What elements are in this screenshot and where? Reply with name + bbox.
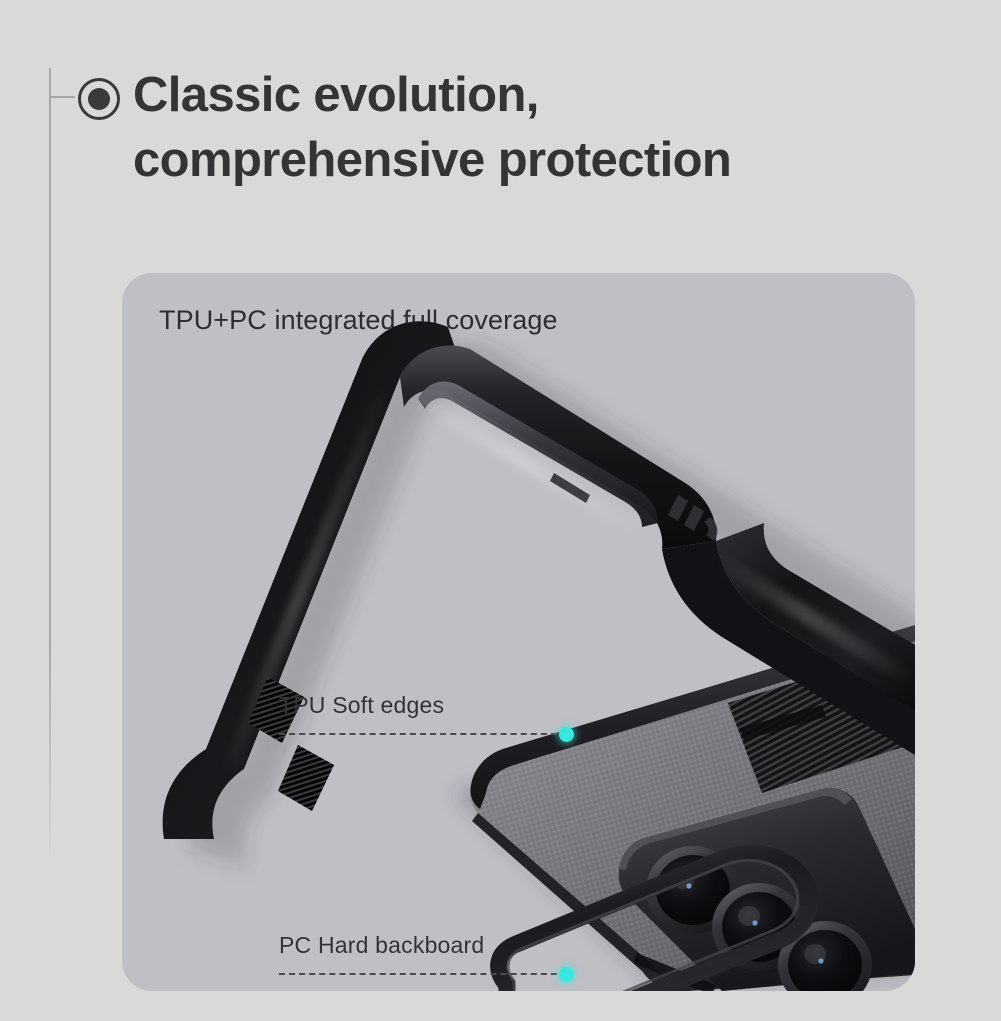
callout-marker-dot — [559, 727, 574, 742]
page-title: Classic evolution, comprehensive protect… — [133, 63, 953, 193]
feature-card: TPU+PC integrated full coverage — [122, 273, 915, 991]
left-accent-tick — [49, 96, 75, 98]
callout-marker-dot — [559, 967, 574, 982]
page-title-line-2: comprehensive protection — [133, 128, 953, 193]
callout-label: TPU Soft edges — [279, 692, 444, 719]
left-accent-rule — [49, 68, 51, 868]
page-title-line-1: Classic evolution, — [133, 63, 953, 128]
target-dot-icon — [78, 78, 120, 120]
callout-leader-line — [279, 973, 567, 975]
product-illustration — [122, 273, 915, 991]
callout-label: PC Hard backboard — [279, 932, 484, 959]
callout-leader-line — [279, 733, 567, 735]
